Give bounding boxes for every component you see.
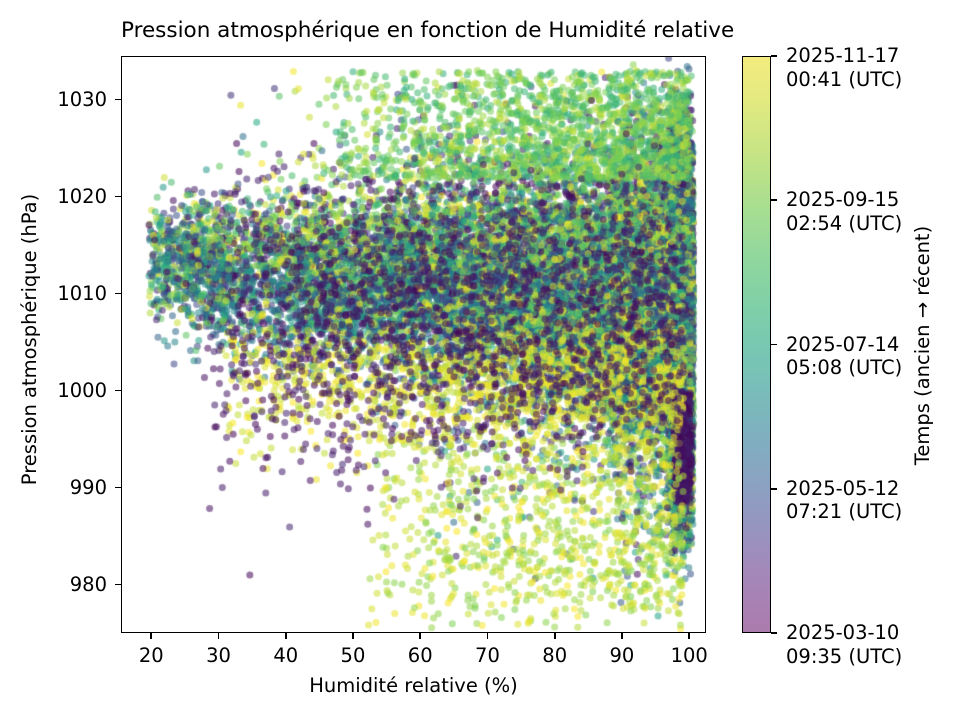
x-tick-label: 100 — [649, 644, 729, 667]
plot-area[interactable] — [121, 56, 706, 633]
colorbar-tick-mark — [771, 55, 777, 57]
colorbar-tick-mark — [771, 199, 777, 201]
x-tick-mark — [487, 633, 489, 639]
colorbar[interactable] — [742, 56, 771, 633]
page-title: Pression atmosphérique en fonction de Hu… — [121, 18, 707, 44]
colorbar-tick-mark — [771, 632, 777, 634]
figure-canvas: Pression atmosphérique en fonction de Hu… — [0, 0, 960, 720]
x-tick-mark — [150, 633, 152, 639]
x-tick-mark — [419, 633, 421, 639]
scatter-plot-canvas — [122, 57, 706, 633]
colorbar-tick-mark — [771, 344, 777, 346]
x-tick-mark — [688, 633, 690, 639]
x-tick-mark — [218, 633, 220, 639]
x-tick-mark — [554, 633, 556, 639]
y-axis-title: Pression atmosphérique (hPa) — [18, 51, 41, 628]
colorbar-tick-mark — [771, 488, 777, 490]
x-tick-mark — [285, 633, 287, 639]
x-tick-mark — [352, 633, 354, 639]
x-tick-mark — [621, 633, 623, 639]
colorbar-gradient — [743, 57, 770, 632]
x-axis-title: Humidité relative (%) — [121, 674, 706, 697]
colorbar-title: Temps (ancien → récent) — [911, 57, 934, 634]
